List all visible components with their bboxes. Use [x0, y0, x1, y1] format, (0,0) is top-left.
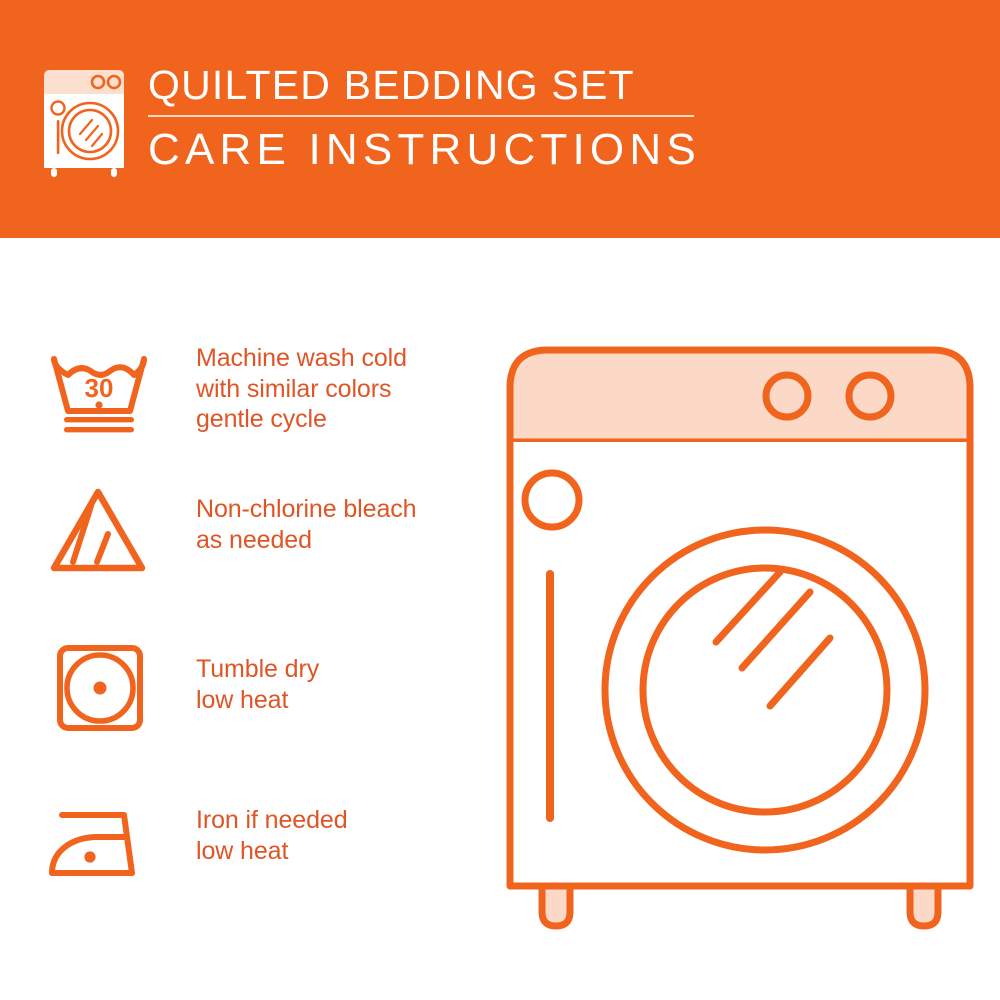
header-banner: QUILTED BEDDING SET CARE INSTRUCTIONS — [0, 0, 1000, 238]
page-subtitle: CARE INSTRUCTIONS — [148, 125, 701, 175]
care-instructions-list: 30 Machine wash cold with similar colors… — [0, 238, 470, 1000]
washing-machine-illustration — [480, 320, 990, 940]
wash-temperature-label: 30 — [85, 373, 114, 403]
care-row: Tumble dry low heat — [42, 638, 472, 738]
control-panel — [510, 350, 970, 442]
washing-machine-icon — [40, 68, 134, 180]
care-instruction-text: Iron if needed low heat — [196, 793, 348, 866]
care-row: 30 Machine wash cold with similar colors… — [42, 343, 472, 443]
care-instruction-text: Machine wash cold with similar colors ge… — [196, 343, 407, 435]
tumble-dry-low-heat-symbol — [46, 640, 150, 736]
care-instruction-text: Non-chlorine bleach as needed — [196, 480, 416, 555]
detergent-slot — [546, 570, 554, 822]
care-symbol-slot — [42, 638, 154, 738]
machine-foot-right — [910, 886, 938, 926]
machine-foot-left — [542, 886, 570, 926]
care-row: Non-chlorine bleach as needed — [42, 480, 472, 580]
care-symbol-slot — [42, 793, 154, 893]
header-content: QUILTED BEDDING SET CARE INSTRUCTIONS — [40, 62, 701, 180]
iron-low-heat-symbol — [46, 795, 150, 891]
page-title: QUILTED BEDDING SET — [148, 62, 701, 108]
machine-wash-30-gentle-symbol: 30 — [46, 345, 150, 441]
title-divider — [148, 115, 694, 117]
care-row: Iron if needed low heat — [42, 793, 472, 893]
care-symbol-slot: 30 — [42, 343, 154, 443]
care-instruction-text: Tumble dry low heat — [196, 638, 319, 715]
non-chlorine-bleach-triangle-symbol — [46, 482, 150, 578]
header-title-group: QUILTED BEDDING SET CARE INSTRUCTIONS — [148, 62, 701, 175]
care-symbol-slot — [42, 480, 154, 580]
